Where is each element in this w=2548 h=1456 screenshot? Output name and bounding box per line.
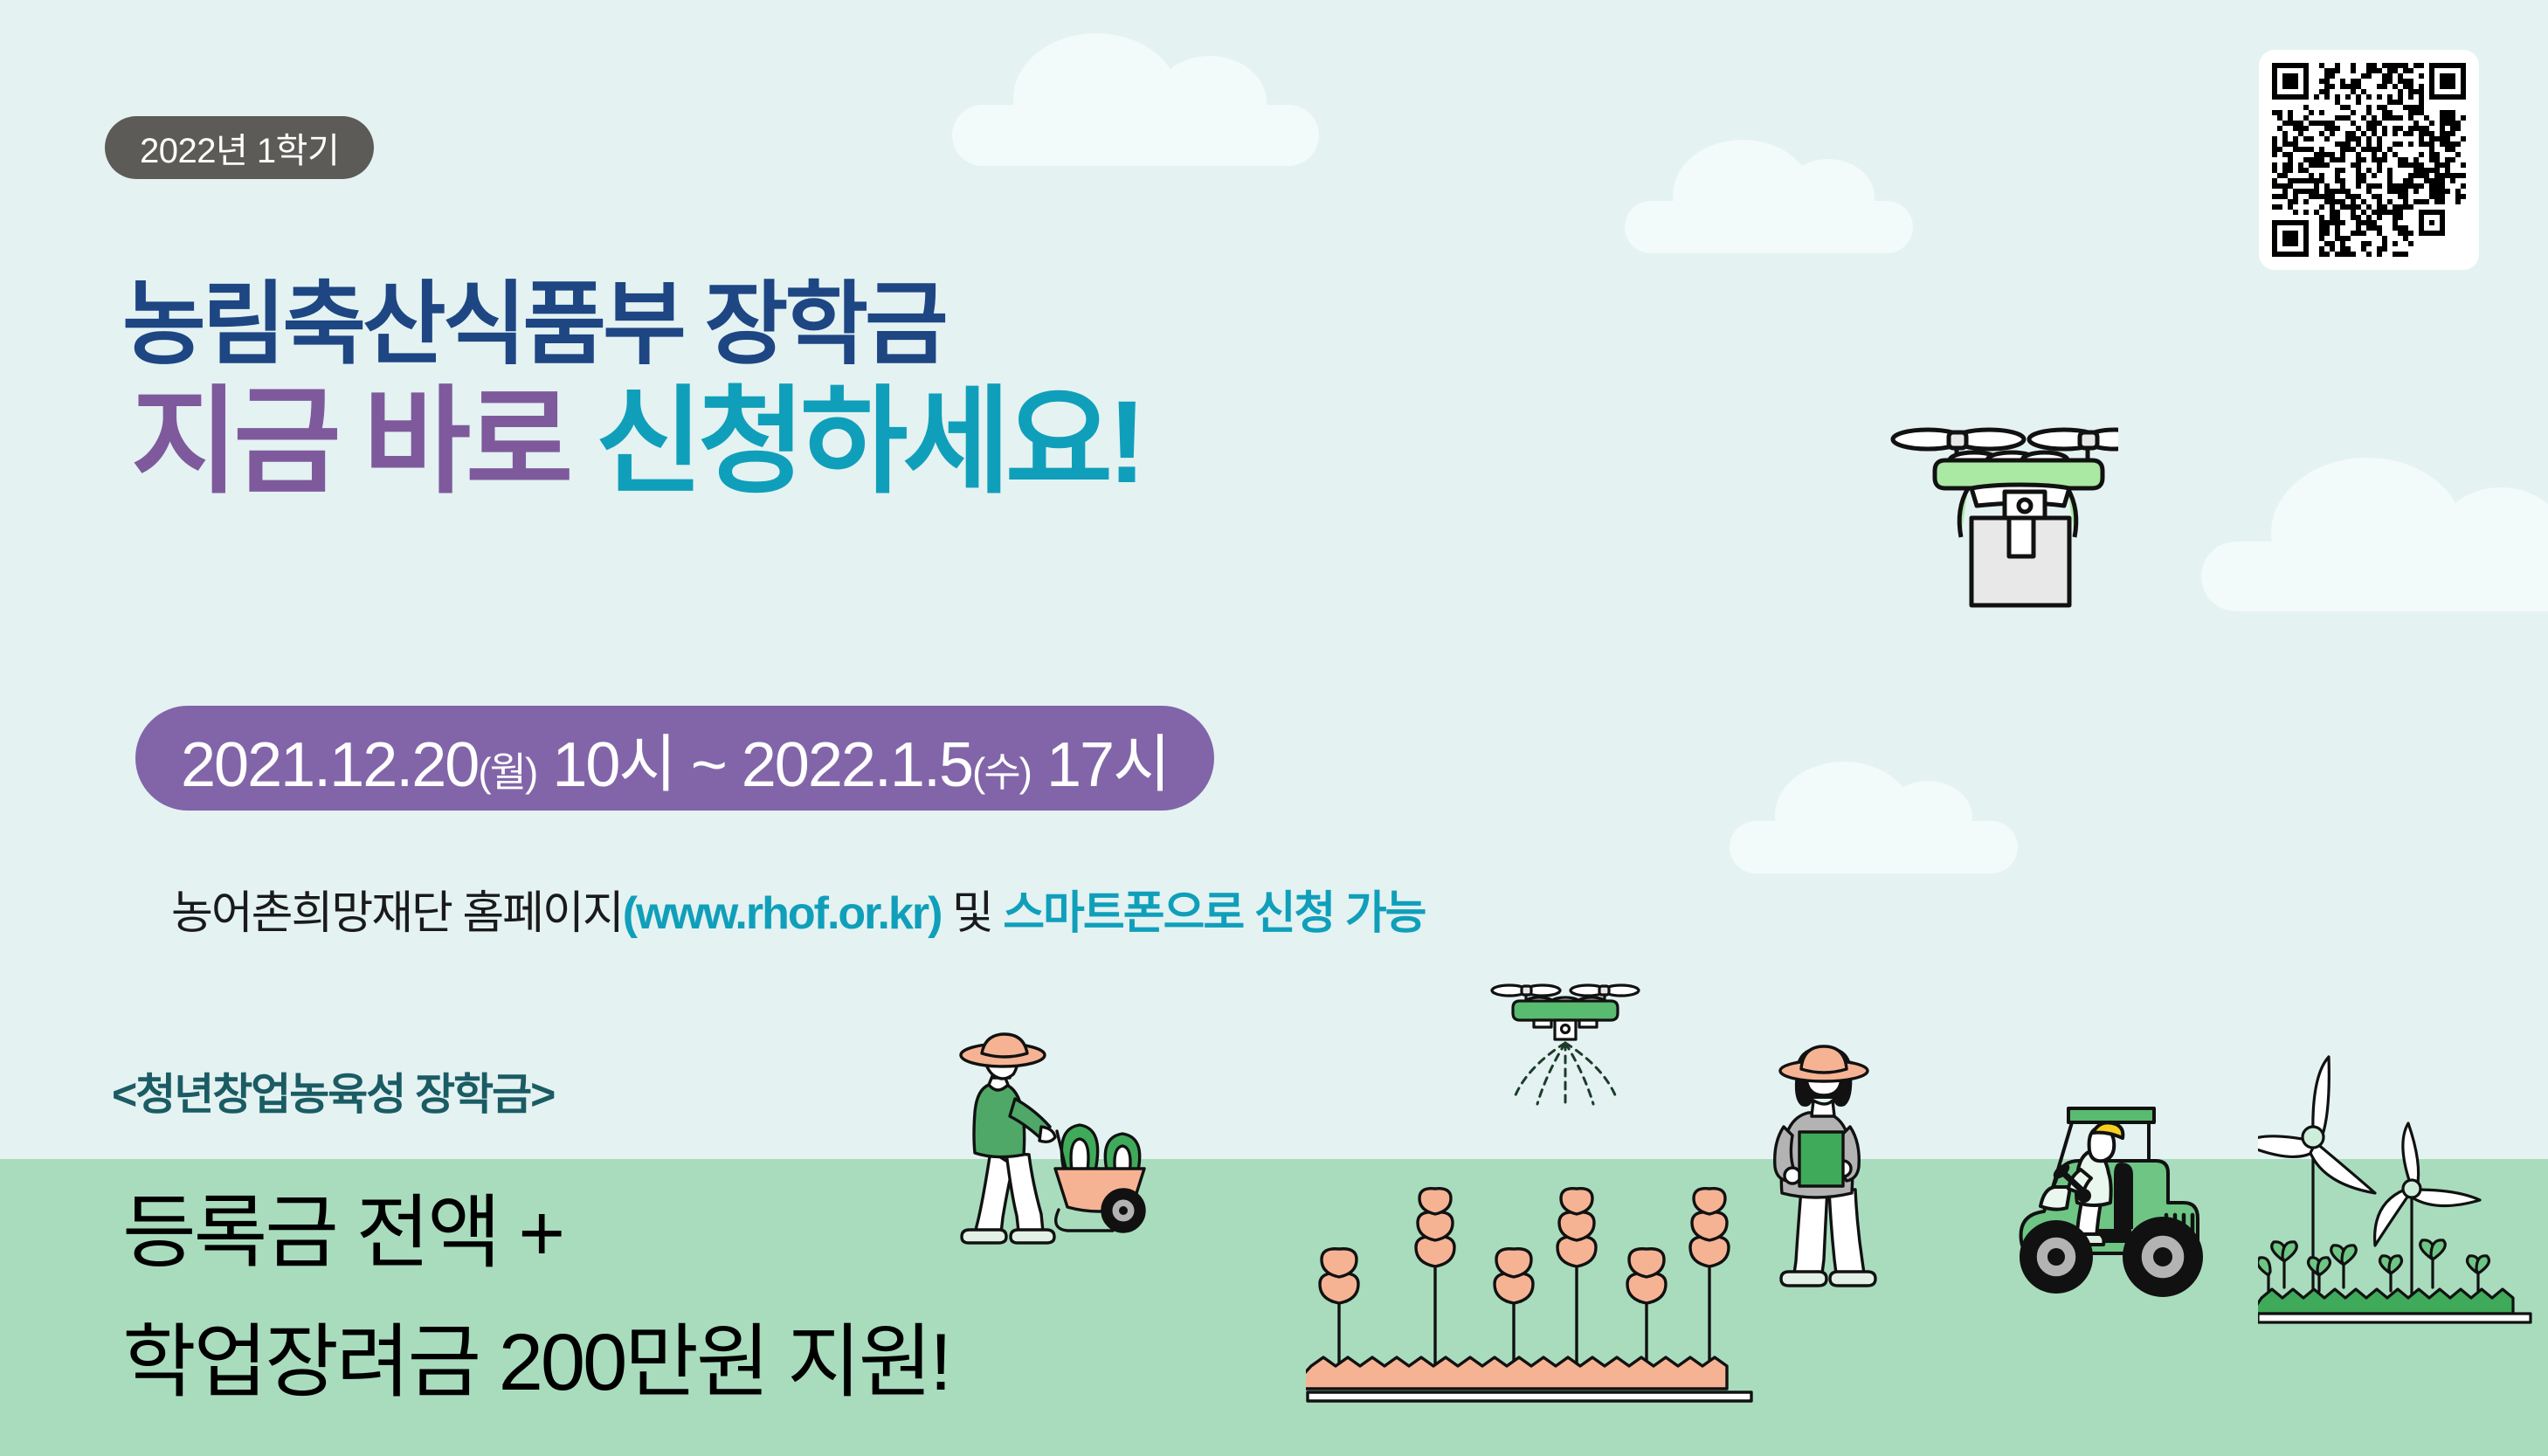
scholarship-type-label: <청년창업농육성 장학금> bbox=[112, 1059, 554, 1122]
headline-purple-part: 지금 바로 bbox=[131, 377, 568, 507]
website-url[interactable]: (www.rhof.or.kr) bbox=[623, 888, 942, 939]
qr-code-panel[interactable] bbox=[2259, 50, 2479, 270]
start-day: (월) bbox=[478, 741, 536, 798]
end-date: 2022.1.5 bbox=[742, 729, 972, 801]
headline-teal-part: 신청하세요! bbox=[596, 377, 1142, 507]
wheat-field-icon bbox=[1306, 1179, 1760, 1406]
tractor-icon bbox=[2009, 1070, 2271, 1306]
delivery-drone-icon bbox=[1874, 406, 2118, 616]
cloud-decoration-3 bbox=[2201, 542, 2548, 611]
spray-drone-icon bbox=[1485, 978, 1642, 1118]
page-subtitle: 지금 바로 신청하세요! bbox=[131, 384, 1142, 501]
semester-badge-label: 2022년 1학기 bbox=[140, 122, 339, 173]
channel-suffix: 스마트폰으로 신청 가능 bbox=[1003, 888, 1425, 939]
benefit-line-1: 등록금 전액 + bbox=[122, 1168, 563, 1284]
qr-code-icon[interactable] bbox=[2272, 63, 2466, 257]
cloud-decoration-2 bbox=[1625, 201, 1913, 253]
date-separator: ~ bbox=[691, 729, 726, 801]
end-day: (수) bbox=[972, 741, 1031, 798]
application-period-text: 2021.12.20 (월) 10시 ~ 2022.1.5 (수) 17시 bbox=[181, 713, 1169, 804]
start-date: 2021.12.20 bbox=[181, 729, 478, 801]
cloud-decoration-4 bbox=[1730, 821, 2018, 873]
scholarship-poster: 2022년 1학기 농림축산식품부 장학금 지금 바로 신청하세요! 2021.… bbox=[0, 0, 2548, 1456]
cloud-decoration-1 bbox=[952, 105, 1319, 166]
channel-prefix: 농어촌희망재단 홈페이지 bbox=[171, 888, 623, 939]
benefit-line-2: 학업장려금 200만원 지원! bbox=[122, 1297, 949, 1413]
application-channel-text: 농어촌희망재단 홈페이지(www.rhof.or.kr) 및 스마트폰으로 신청… bbox=[171, 876, 1426, 942]
farmer-wheelbarrow-icon bbox=[943, 1031, 1205, 1249]
channel-middle: 및 bbox=[941, 888, 1003, 939]
semester-badge: 2022년 1학기 bbox=[105, 116, 374, 179]
application-period-badge: 2021.12.20 (월) 10시 ~ 2022.1.5 (수) 17시 bbox=[135, 706, 1214, 811]
start-time: 10시 bbox=[552, 713, 674, 804]
person-tablet-icon bbox=[1764, 1039, 1939, 1293]
page-title: 농림축산식품부 장학금 bbox=[122, 250, 945, 382]
wind-turbines-icon bbox=[2258, 1039, 2546, 1328]
end-time: 17시 bbox=[1046, 713, 1169, 804]
